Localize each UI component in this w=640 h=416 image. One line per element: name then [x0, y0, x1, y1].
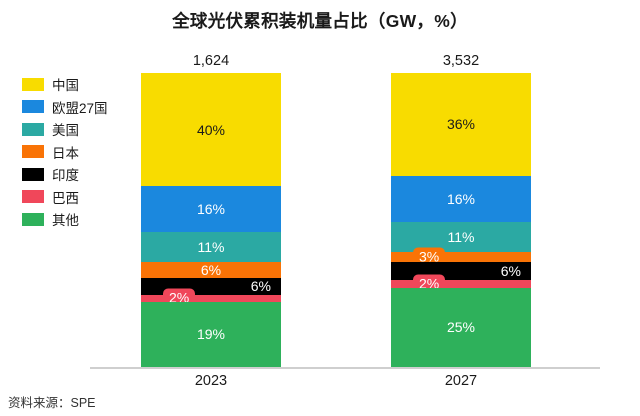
bar-segment[interactable]: 25% [391, 288, 531, 367]
bar-segment[interactable]: 16% [391, 176, 531, 222]
bar-segment-label: 6% [141, 263, 281, 277]
bar-segment[interactable]: 11% [141, 232, 281, 262]
bar-segment[interactable]: 36% [391, 73, 531, 176]
x-tick-label-2023: 2023 [141, 373, 281, 389]
bar-group-2027[interactable]: 3,532 36%16%11%3%6%2%25% [391, 50, 531, 367]
bar-segment-label: 16% [141, 202, 281, 216]
x-tick-label-2027: 2027 [391, 373, 531, 389]
chart-plot-area: 1,624 40%16%11%6%6%2%19% 2023 3,532 36%1… [0, 0, 640, 416]
bar-segment-label: 11% [141, 240, 281, 254]
bar-segment[interactable]: 19% [141, 302, 281, 367]
bar-segment-label: 25% [391, 320, 531, 334]
bar-segment-label: 16% [391, 192, 531, 206]
x-axis-line [90, 367, 600, 369]
bar-segment[interactable]: 16% [141, 186, 281, 232]
bar-group-2023[interactable]: 1,624 40%16%11%6%6%2%19% [141, 50, 281, 367]
bar-segment[interactable]: 2% [391, 280, 531, 288]
stacked-bar-2027[interactable]: 36%16%11%3%6%2%25% [391, 73, 531, 367]
bar-segment[interactable]: 40% [141, 73, 281, 186]
bar-segment-label: 19% [141, 327, 281, 341]
stacked-bar-2023[interactable]: 40%16%11%6%6%2%19% [141, 73, 281, 367]
bar-segment-label: 40% [141, 123, 281, 137]
bar-segment[interactable]: 3% [391, 252, 531, 262]
bar-total-label-2023: 1,624 [141, 50, 281, 73]
bar-segment-label: 36% [391, 117, 531, 131]
bar-segment[interactable]: 2% [141, 295, 281, 302]
bar-segment-label: 6% [251, 279, 271, 293]
bar-segment[interactable]: 6% [141, 278, 281, 295]
bar-segment[interactable]: 6% [391, 262, 531, 280]
bar-segment[interactable]: 11% [391, 222, 531, 252]
bar-segment[interactable]: 6% [141, 262, 281, 278]
bar-segment-label: 11% [391, 230, 531, 244]
bar-total-label-2027: 3,532 [391, 50, 531, 73]
source-note: 资料来源：SPE [8, 392, 96, 411]
bar-segment-label: 6% [501, 264, 521, 278]
